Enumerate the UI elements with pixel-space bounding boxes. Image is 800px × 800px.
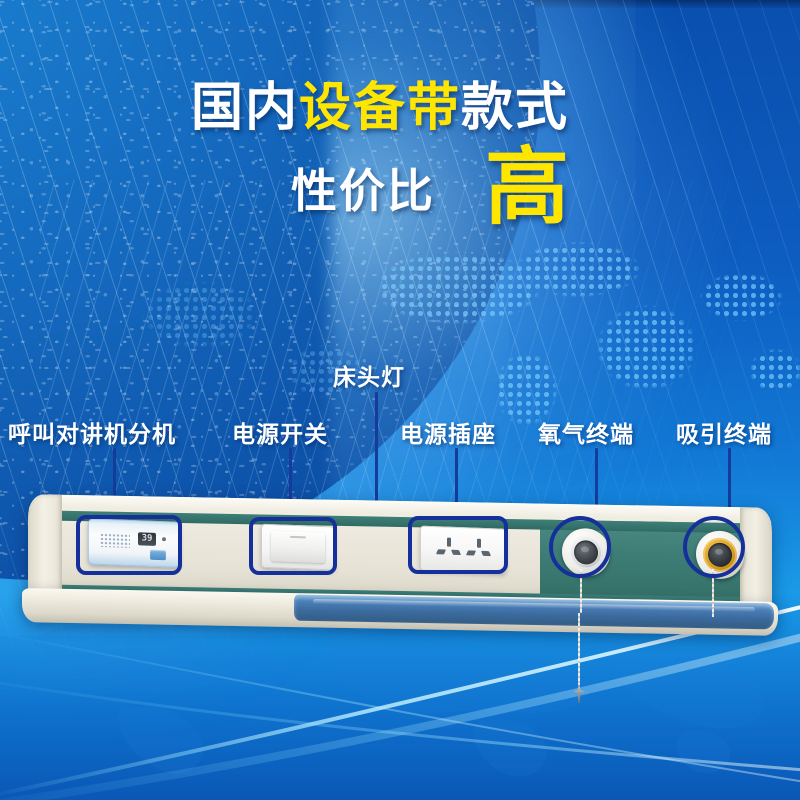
oxygen-port-icon — [574, 540, 598, 565]
intercom-display: 39 — [138, 532, 156, 546]
headline-xingjiabi: 性价比 — [291, 155, 435, 221]
headline-guonei: 国内 — [191, 79, 299, 137]
headline-shebeidai: 设备带 — [299, 79, 461, 137]
headline-gao: 高 — [485, 150, 569, 226]
callout-label-bed-lamp: 床头灯 — [333, 358, 405, 392]
callout-label-oxygen: 氧气终端 — [538, 415, 634, 449]
headline-line-2: 性价比 高 — [0, 150, 800, 226]
callout-label-suction: 吸引终端 — [676, 415, 772, 449]
socket-outlet-right-icon — [466, 538, 492, 563]
suction-terminal-device[interactable] — [696, 530, 744, 580]
speaker-grille-icon — [100, 533, 130, 548]
callout-label-intercom: 呼叫对讲机分机 — [8, 415, 176, 449]
nurse-call-intercom-unit[interactable]: 39 — [88, 518, 180, 567]
oxygen-terminal-device[interactable] — [562, 528, 610, 578]
panel-end-cap-right — [740, 507, 772, 616]
suction-port-icon — [708, 542, 732, 567]
status-led-icon — [162, 537, 166, 541]
dotted-world-map-left — [110, 250, 410, 440]
power-switch-device[interactable] — [261, 524, 335, 571]
rocker-switch-icon[interactable] — [271, 531, 325, 563]
bed-head-unit-panel: 39 — [22, 497, 778, 637]
power-socket-device[interactable] — [420, 526, 506, 574]
banner-canvas: 国内设备带款式 性价比 高 呼叫对讲机分机 电源开关 床头灯 电源插座 氧气终端… — [0, 0, 800, 800]
intercom-call-button[interactable] — [150, 550, 166, 561]
headline-line-1: 国内设备带款式 — [0, 80, 800, 136]
panel-end-cap-left — [28, 494, 62, 603]
headline-kuanshi: 款式 — [461, 79, 569, 137]
callout-label-power-switch: 电源开关 — [232, 415, 328, 449]
callout-label-power-socket: 电源插座 — [400, 415, 496, 449]
suction-cord — [712, 569, 714, 617]
socket-outlet-left-icon — [436, 537, 462, 562]
oxygen-cord-upper — [580, 569, 582, 613]
oxygen-pull-cord[interactable] — [578, 613, 580, 685]
headline-block: 国内设备带款式 性价比 高 — [0, 80, 800, 226]
